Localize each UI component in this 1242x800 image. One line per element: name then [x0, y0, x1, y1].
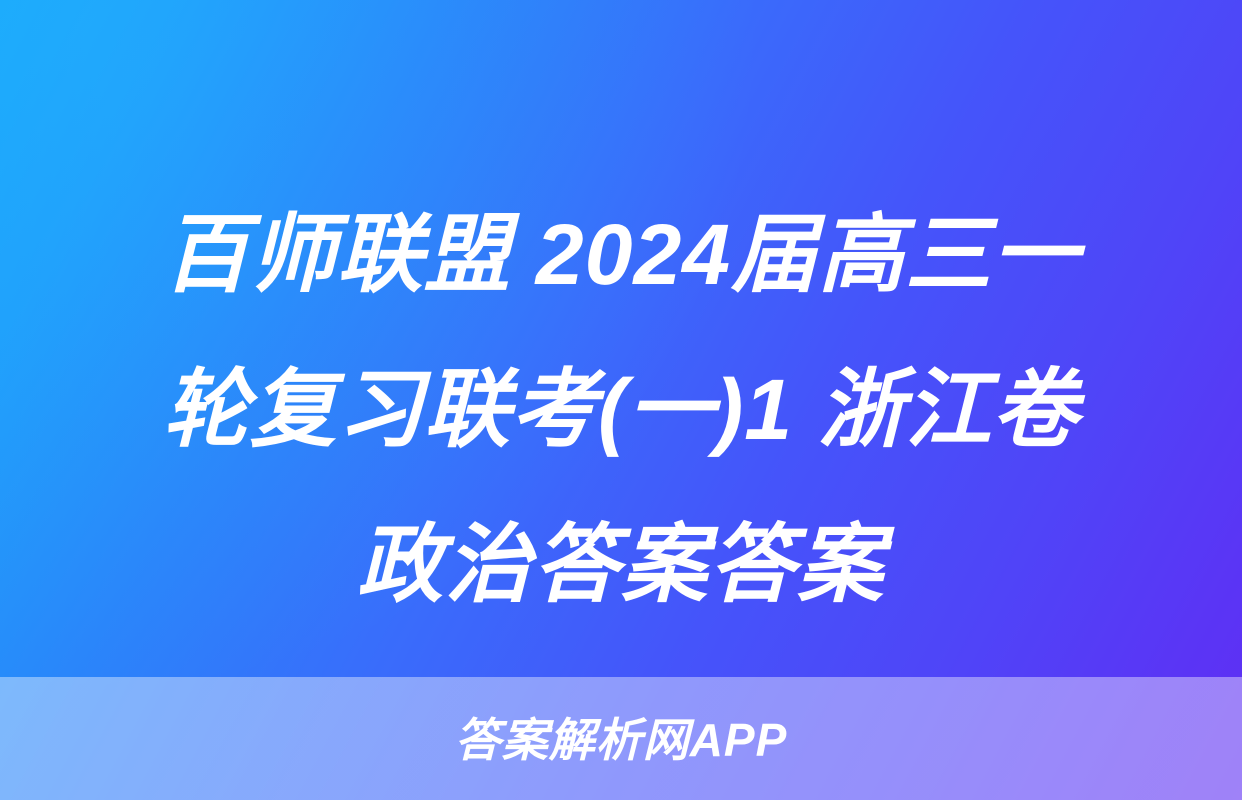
title-line-1: 百师联盟 2024届高三一 — [46, 178, 1196, 333]
title-line-3: 政治答案答案 — [46, 488, 1196, 643]
poster-cover: 百师联盟 2024届高三一 轮复习联考(一)1 浙江卷 政治答案答案 答案解析网… — [0, 0, 1242, 800]
title-line-2: 轮复习联考(一)1 浙江卷 — [46, 333, 1196, 488]
app-watermark-label: 答案解析网APP — [455, 717, 788, 763]
poster-title: 百师联盟 2024届高三一 轮复习联考(一)1 浙江卷 政治答案答案 — [0, 178, 1242, 643]
footer-banner: 答案解析网APP — [0, 677, 1242, 800]
